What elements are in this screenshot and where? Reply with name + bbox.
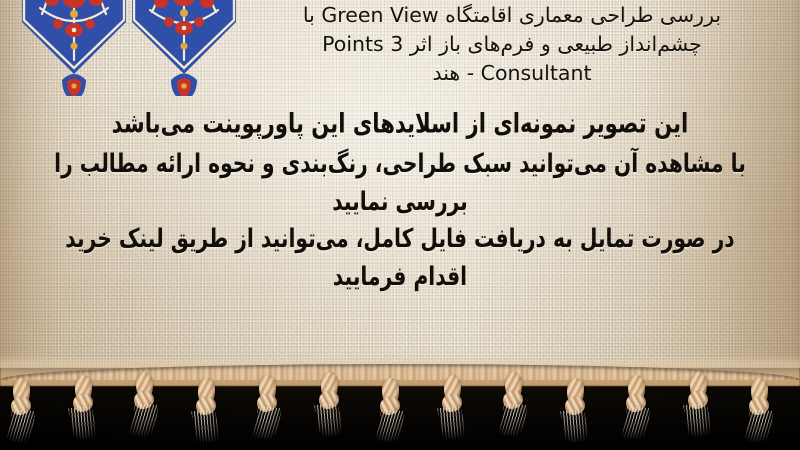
- slide-title-line-1: بررسی طراحی معماری اقامتگاه Green View ب…: [232, 1, 792, 30]
- fringe-tassel: [254, 375, 280, 437]
- fringe-tassel: [193, 378, 219, 440]
- slide-title-line-3: Consultant - هند: [232, 59, 792, 88]
- tassel-frayed-threads: [68, 406, 98, 440]
- slide-title: بررسی طراحی معماری اقامتگاه Green View ب…: [232, 1, 792, 88]
- fringe-tassel: [685, 372, 711, 434]
- fringe-tassel: [562, 378, 588, 440]
- slide-title-line-2: چشم‌انداز طبیعی و فرم‌های باز اثر 3 Poin…: [232, 30, 792, 59]
- fringe-tassel: [623, 375, 649, 437]
- fringe-tassel: [316, 372, 342, 434]
- tassel-frayed-threads: [560, 409, 590, 443]
- body-line-3: در صورت تمایل به دریافت فایل کامل، می‌تو…: [52, 221, 748, 297]
- tassel-frayed-threads: [744, 409, 774, 442]
- body-line-1: این تصویر نمونه‌ای از اسلایدهای این پاور…: [52, 105, 748, 143]
- body-line-2: با مشاهده آن می‌توانید سبک طراحی، رنگ‌بن…: [52, 146, 748, 222]
- tassel-frayed-threads: [498, 403, 528, 436]
- tassel-frayed-threads: [314, 403, 344, 437]
- tassel-frayed-threads: [129, 403, 159, 436]
- fringe-tassel: [8, 378, 34, 440]
- medallion-pendant-drop: [62, 74, 86, 96]
- slide-body-text: این تصویر نمونه‌ای از اسلایدهای این پاور…: [22, 108, 778, 291]
- tassel-frayed-threads: [191, 409, 221, 443]
- carpet-medallion-icon-right: [124, 0, 244, 96]
- fringe-tassel: [377, 378, 403, 440]
- fringe-tassel: [439, 375, 465, 437]
- tassel-frayed-threads: [375, 409, 405, 442]
- tassel-frayed-threads: [621, 406, 651, 439]
- fringe-tassel: [70, 375, 96, 437]
- fringe-tassel: [746, 378, 772, 440]
- carpet-medallion-decoration-group: [0, 0, 260, 100]
- tassel-frayed-threads: [6, 409, 36, 442]
- tassel-frayed-threads: [252, 406, 282, 439]
- carpet-fringe-tassels: [0, 364, 800, 450]
- tassel-frayed-threads: [437, 406, 467, 440]
- tassel-frayed-threads: [683, 403, 713, 437]
- medallion-pendant-drop: [171, 74, 197, 97]
- slide-canvas: بررسی طراحی معماری اقامتگاه Green View ب…: [0, 0, 800, 450]
- carpet-medallion-icon-left: [14, 0, 134, 96]
- fringe-tassel: [500, 372, 526, 434]
- fringe-tassel: [131, 372, 157, 434]
